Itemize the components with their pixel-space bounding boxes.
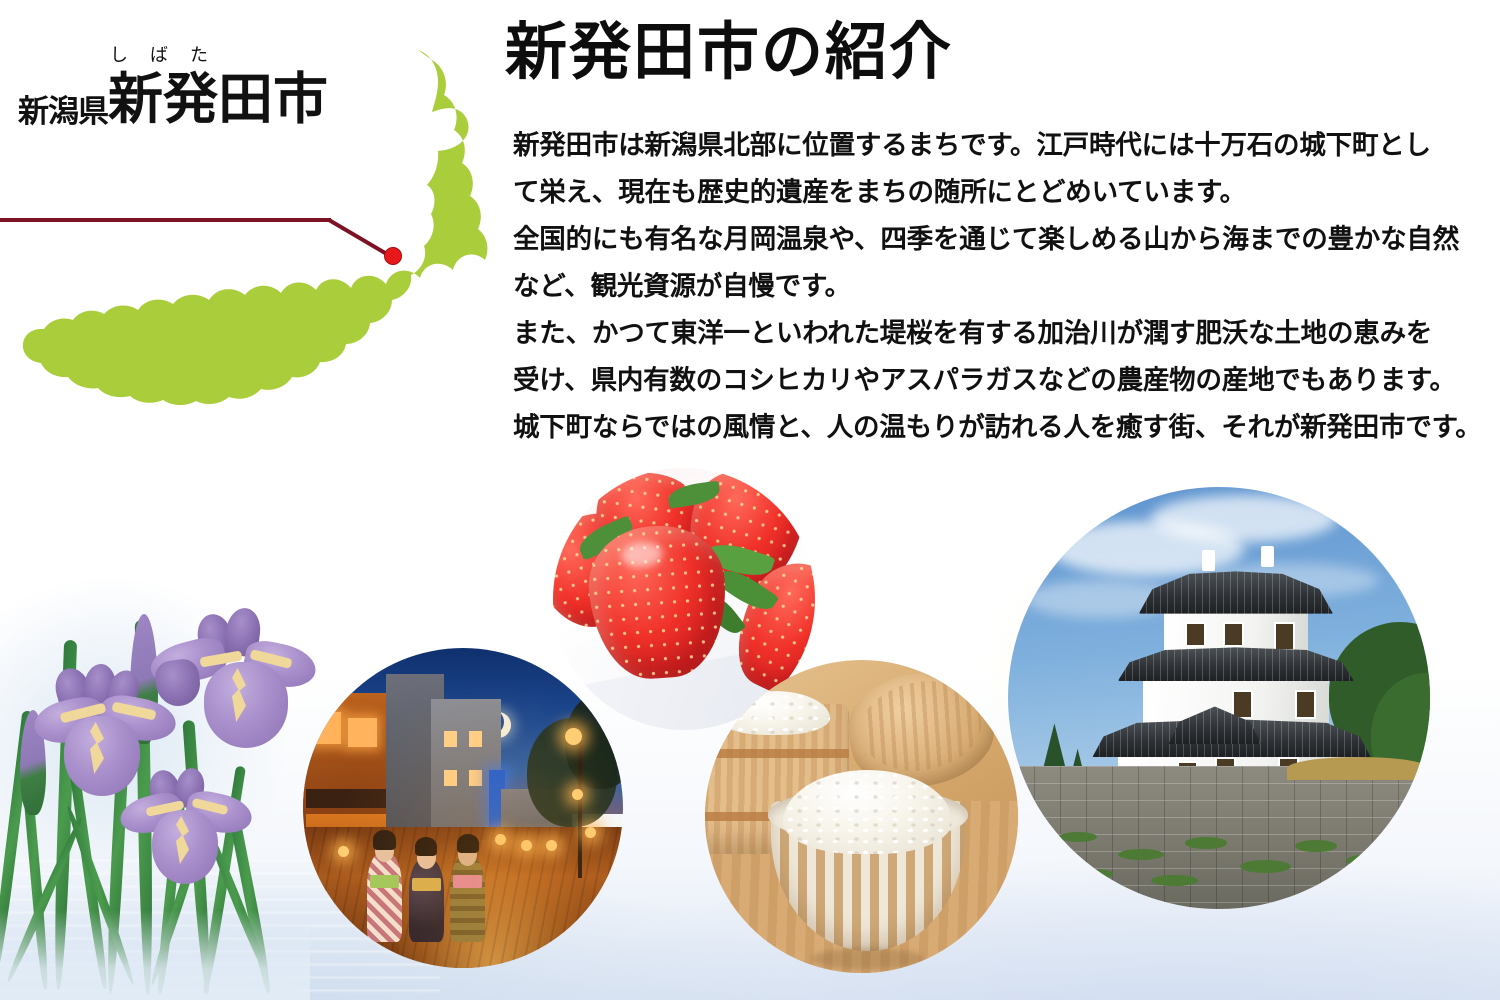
city-name-head: 新発田 bbox=[108, 69, 273, 130]
body-line: 受け、県内有数のコシヒカリやアスパラガスなどの農産物の産地でもあります。 bbox=[513, 357, 1473, 404]
page-title: 新発田市の紹介 bbox=[505, 22, 953, 84]
furigana-text: しばた bbox=[110, 46, 275, 64]
iris-flowers-illustration bbox=[0, 600, 310, 1000]
leader-line-horizontal bbox=[0, 218, 331, 222]
onsen-street-photo bbox=[303, 648, 623, 968]
body-line: など、観光資源が自慢です。 bbox=[513, 263, 1473, 310]
body-copy: 新発田市は新潟県北部に位置するまちです。江戸時代には十万石の城下町とし て栄え、… bbox=[513, 122, 1473, 451]
location-label-text: 新潟県しばた新発田市 bbox=[18, 72, 328, 127]
map-marker-dot bbox=[384, 247, 402, 265]
prefecture-name: 新潟県 bbox=[18, 94, 108, 129]
body-line: また、かつて東洋一といわれた堤桜を有する加治川が潤す肥沃な土地の恵みを bbox=[513, 310, 1473, 357]
iris-flower bbox=[124, 770, 254, 885]
poster-canvas: 新潟県しばた新発田市 新発田市の紹介 新発田市は新潟県北部に位置するまちです。江… bbox=[0, 0, 1500, 1000]
city-name-tail: 市 bbox=[273, 69, 328, 130]
body-line: 城下町ならではの風情と、人の温もりが訪れる人を癒す街、それが新発田市です。 bbox=[513, 404, 1473, 451]
body-line: 新発田市は新潟県北部に位置するまちです。江戸時代には十万石の城下町とし bbox=[513, 122, 1473, 169]
city-with-furigana: しばた新発田 bbox=[108, 72, 273, 127]
rice-bowl-photo bbox=[705, 660, 1018, 973]
body-line: て栄え、現在も歴史的遺産をまちの随所にとどめいています。 bbox=[513, 169, 1473, 216]
shibata-castle-photo bbox=[1008, 487, 1430, 909]
iris-flower bbox=[152, 614, 312, 764]
location-label: 新潟県しばた新発田市 bbox=[18, 58, 488, 178]
body-line: 全国的にも有名な月岡温泉や、四季を通じて楽しめる山から海までの豊かな自然 bbox=[513, 216, 1473, 263]
